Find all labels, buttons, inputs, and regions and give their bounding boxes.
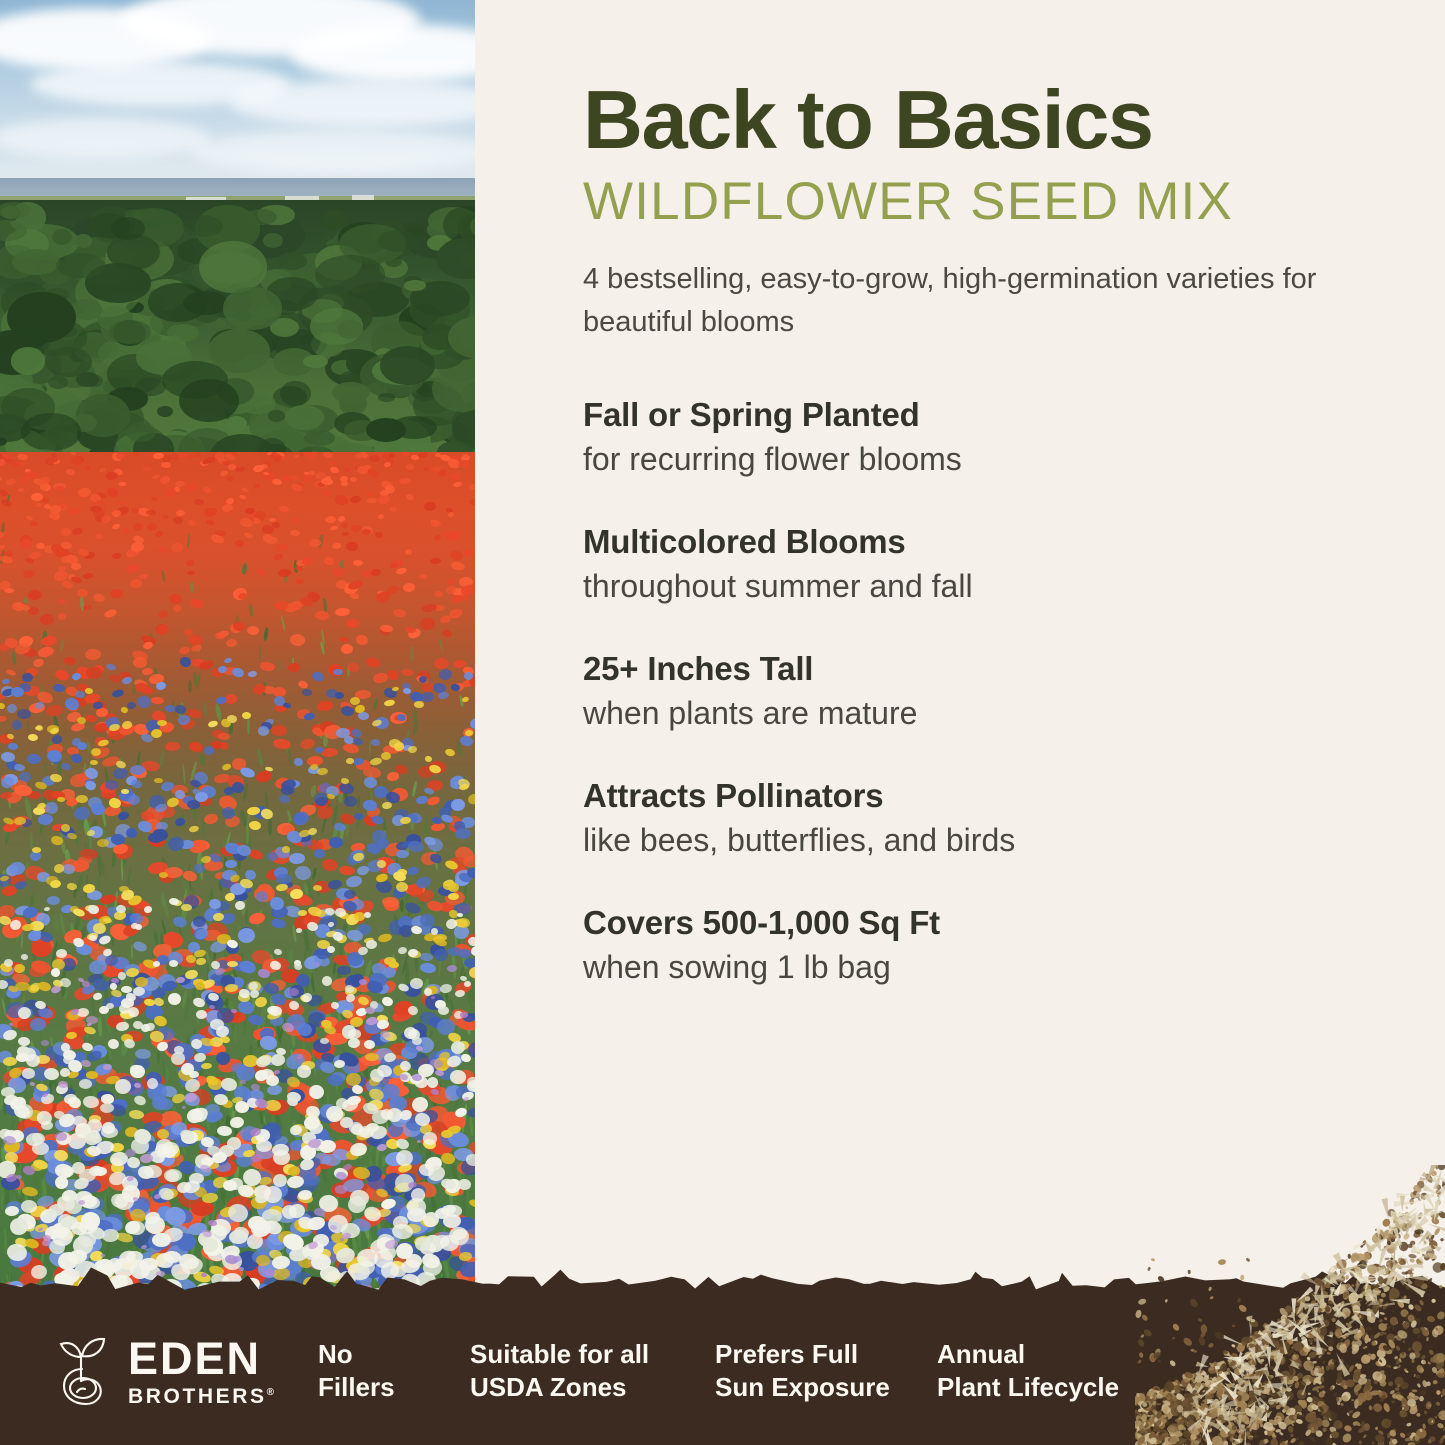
product-infographic: Back to Basics WILDFLOWER SEED MIX 4 bes… [0, 0, 1445, 1445]
flower [121, 789, 129, 794]
tree-canopy [157, 406, 173, 417]
cloud [230, 80, 475, 126]
badge-line-2: Plant Lifecycle [937, 1371, 1157, 1404]
flower [14, 963, 26, 973]
flower [246, 825, 249, 844]
flower [365, 939, 377, 948]
flower [249, 989, 258, 998]
flower [235, 539, 244, 547]
footer-content: EDEN BROTHERS® No Fillers Suitable for a… [0, 1297, 1445, 1445]
flower [364, 1007, 374, 1014]
feature-subtitle: when plants are mature [583, 694, 1375, 733]
feature-subtitle: when sowing 1 lb bag [583, 948, 1375, 987]
badge-plant-lifecycle: Annual Plant Lifecycle [937, 1338, 1157, 1405]
flower [402, 687, 411, 694]
badge-line-2: USDA Zones [470, 1371, 715, 1404]
feature-title: Attracts Pollinators [583, 777, 1375, 816]
flower [175, 976, 184, 983]
flower [335, 1185, 347, 1194]
flower [395, 849, 408, 858]
flower [341, 643, 353, 653]
cloud [190, 130, 475, 174]
flower [450, 798, 465, 811]
tree-canopy [378, 230, 419, 252]
flower [204, 745, 215, 755]
tree-canopy [72, 299, 101, 320]
feature-item: Covers 500-1,000 Sq Ft when sowing 1 lb … [583, 904, 1375, 987]
brand-wordmark: EDEN BROTHERS® [128, 1336, 277, 1407]
flower [58, 613, 67, 620]
flower [221, 807, 234, 819]
flower [315, 747, 324, 753]
tree-canopy [268, 410, 285, 422]
flower [276, 873, 292, 884]
flower [228, 464, 236, 470]
tree-canopy [179, 379, 239, 423]
tree-canopy [167, 324, 198, 343]
flower [40, 614, 54, 625]
tree-canopy [199, 241, 267, 292]
flower [181, 904, 192, 911]
flower [335, 728, 350, 738]
flower [187, 799, 200, 808]
tree-canopy [378, 393, 395, 402]
flower [438, 1006, 450, 1015]
flower [87, 904, 98, 914]
flower [152, 829, 168, 842]
flower [108, 471, 118, 478]
tree-canopy [285, 405, 325, 430]
flower [217, 732, 230, 740]
tree-canopy [75, 234, 92, 248]
badge-no-fillers: No Fillers [318, 1338, 470, 1405]
flower [227, 1136, 241, 1149]
flower [130, 765, 145, 775]
flower [97, 1017, 102, 1037]
flower [273, 1069, 279, 1074]
flower [375, 532, 383, 538]
tree-canopy [303, 355, 328, 368]
flower [414, 701, 424, 708]
feature-title: Fall or Spring Planted [583, 396, 1375, 435]
flower [290, 529, 300, 536]
tree-canopy [366, 418, 406, 442]
tree-canopy [56, 253, 104, 279]
flower [105, 780, 119, 790]
flower [4, 959, 13, 967]
feature-item: 25+ Inches Tall when plants are mature [583, 650, 1375, 733]
flower [222, 1180, 237, 1191]
tree-canopy [11, 347, 46, 375]
torn-soil-edge [0, 1265, 1445, 1297]
flower [430, 557, 441, 564]
tree-canopy [126, 422, 156, 442]
flower [175, 509, 184, 515]
badge-line-1: Prefers Full [715, 1338, 937, 1371]
page-subtitle: WILDFLOWER SEED MIX [583, 175, 1375, 228]
flower [133, 656, 148, 667]
feature-item: Attracts Pollinators like bees, butterfl… [583, 777, 1375, 860]
flower [86, 666, 102, 679]
flower [340, 1238, 344, 1241]
tree-canopy [12, 249, 60, 275]
flower [296, 927, 302, 932]
wildflower-meadow [0, 452, 475, 1300]
flower [247, 626, 259, 635]
flower [465, 729, 473, 736]
flower [346, 757, 354, 763]
badge-line-1: Annual [937, 1338, 1157, 1371]
badge-line-2: Fillers [318, 1371, 470, 1404]
trademark-symbol: ® [267, 1387, 277, 1398]
brand-subname: BROTHERS® [128, 1386, 277, 1407]
tree-canopy [226, 416, 247, 432]
feature-title: Multicolored Blooms [583, 523, 1375, 562]
brand-name: EDEN [128, 1336, 277, 1381]
tree-canopy [263, 233, 283, 249]
flower [455, 828, 471, 839]
flower [434, 658, 449, 670]
flower [196, 1009, 207, 1019]
flower [120, 706, 128, 713]
brand-logo[interactable]: EDEN BROTHERS® [48, 1335, 318, 1407]
tree-canopy [338, 320, 363, 338]
wildflower-field-photo [0, 0, 475, 1300]
flower [273, 455, 282, 462]
flower [119, 482, 126, 486]
tree-canopy [183, 215, 223, 237]
flower [434, 948, 449, 960]
flower [154, 777, 163, 782]
page-title: Back to Basics [583, 78, 1375, 161]
flower [346, 662, 359, 672]
flower [227, 961, 238, 967]
flower [150, 496, 157, 500]
tree-canopy [149, 289, 170, 305]
feature-subtitle: throughout summer and fall [583, 567, 1375, 606]
flower [227, 476, 234, 481]
flower [131, 507, 139, 513]
flower [76, 794, 88, 802]
flower [354, 452, 362, 459]
flower [47, 896, 60, 905]
tree-canopy [183, 291, 227, 316]
tree-canopy [277, 252, 307, 270]
flower [85, 687, 94, 694]
feature-title: Covers 500-1,000 Sq Ft [583, 904, 1375, 943]
intro-text: 4 bestselling, easy-to-grow, high-germin… [583, 258, 1323, 344]
flower [457, 918, 470, 928]
tree-canopy [380, 346, 436, 385]
flower [377, 860, 386, 868]
badge-line-1: Suitable for all [470, 1338, 715, 1371]
flower [242, 711, 251, 718]
flower [137, 695, 152, 708]
footer-badges: No Fillers Suitable for all USDA Zones P… [318, 1338, 1445, 1405]
flower [134, 923, 142, 930]
flower [314, 1208, 325, 1216]
treeline [0, 200, 475, 470]
flower [346, 619, 359, 628]
badge-line-1: No [318, 1338, 470, 1371]
flower [119, 886, 129, 892]
feature-list: Fall or Spring Planted for recurring flo… [583, 396, 1375, 987]
flower [315, 962, 320, 966]
tree-canopy [404, 280, 425, 291]
flower [208, 898, 221, 909]
flower [21, 953, 29, 959]
flower [407, 745, 416, 753]
feature-item: Multicolored Blooms throughout summer an… [583, 523, 1375, 606]
flower [194, 499, 204, 505]
flower [22, 1068, 35, 1079]
flower [302, 452, 310, 457]
flower [467, 868, 475, 878]
flower [458, 949, 472, 958]
flower [350, 697, 360, 705]
flower [101, 1253, 106, 1257]
flower [344, 795, 358, 807]
feature-subtitle: like bees, butterflies, and birds [583, 821, 1375, 860]
flower [40, 484, 48, 490]
feature-subtitle: for recurring flower blooms [583, 440, 1375, 479]
flower [111, 833, 125, 845]
tree-canopy [223, 287, 282, 329]
flower [25, 471, 37, 478]
flower [412, 1074, 422, 1081]
flower [364, 465, 371, 470]
flower [225, 859, 237, 868]
feature-title: 25+ Inches Tall [583, 650, 1375, 689]
flower [164, 1169, 182, 1182]
flower [407, 1197, 427, 1215]
flower [13, 816, 26, 825]
tree-canopy [21, 413, 81, 450]
flower [346, 542, 358, 552]
flower [90, 760, 98, 766]
flower [16, 709, 30, 719]
flower [196, 957, 206, 965]
flower [101, 1229, 118, 1243]
content-panel: Back to Basics WILDFLOWER SEED MIX 4 bes… [475, 0, 1445, 1280]
badge-sun-exposure: Prefers Full Sun Exposure [715, 1338, 937, 1405]
flower [450, 1069, 466, 1083]
tree-canopy [109, 320, 151, 344]
flower [419, 573, 427, 578]
flower [19, 771, 31, 782]
badge-usda-zones: Suitable for all USDA Zones [470, 1338, 715, 1405]
flower [159, 871, 169, 877]
flower [412, 708, 416, 723]
flower [30, 521, 38, 526]
flower [79, 1079, 92, 1089]
flower [405, 463, 413, 469]
flower [208, 1219, 218, 1226]
flower [44, 802, 57, 814]
flower [345, 1072, 361, 1086]
footer-soil-bar: EDEN BROTHERS® No Fillers Suitable for a… [0, 1270, 1445, 1445]
flower [309, 1121, 324, 1134]
flower [353, 560, 363, 566]
seedling-logo-icon [48, 1335, 114, 1407]
flower [133, 1196, 138, 1200]
brand-subname-text: BROTHERS [128, 1385, 267, 1408]
badge-line-2: Sun Exposure [715, 1371, 937, 1404]
flower [325, 907, 336, 915]
flower [96, 838, 109, 847]
tree-canopy [322, 210, 348, 229]
tree-canopy [315, 255, 385, 294]
flower [349, 1189, 369, 1206]
flower [225, 694, 237, 704]
flower [165, 705, 175, 713]
flower [258, 645, 260, 661]
cloud [0, 118, 210, 158]
flower [419, 676, 427, 683]
flower [335, 907, 346, 917]
feature-item: Fall or Spring Planted for recurring flo… [583, 396, 1375, 479]
